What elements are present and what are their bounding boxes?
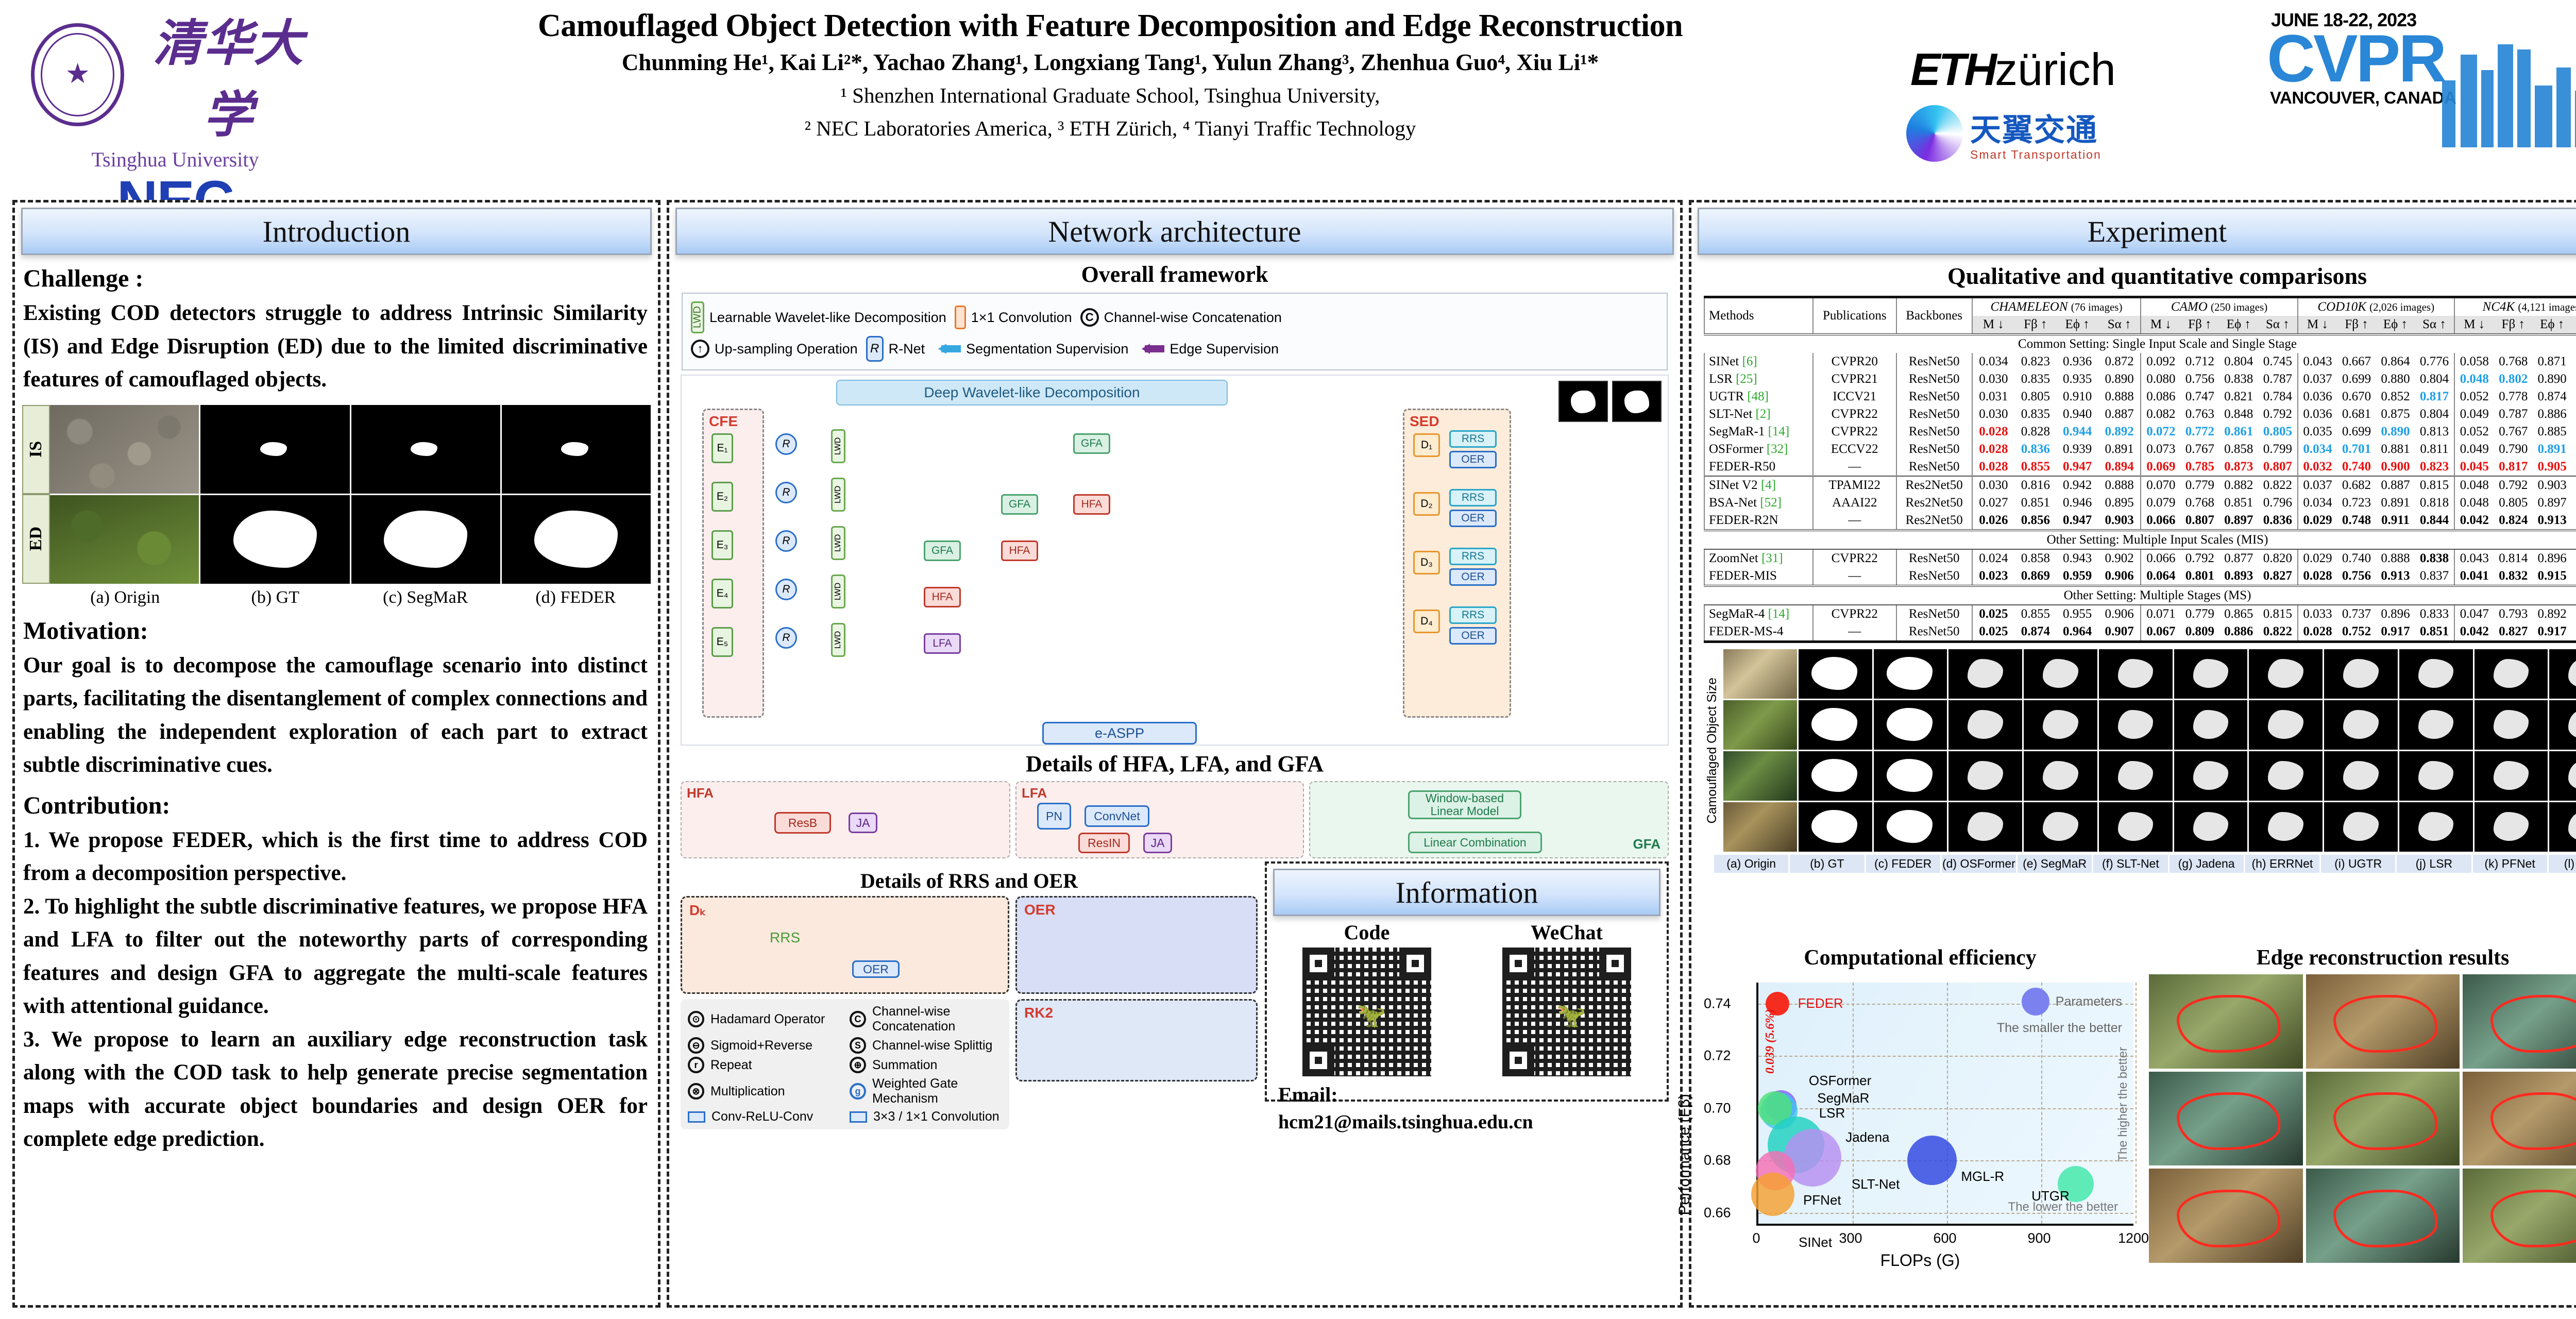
edge-result-9 xyxy=(2463,1169,2576,1263)
cell-metric-value: 0.036 xyxy=(2298,388,2337,405)
output-seg-map xyxy=(1558,381,1608,422)
hadamard-icon: ⊙ xyxy=(688,1011,704,1027)
legend-text: Weighted Gate Mechanism xyxy=(872,1076,1002,1106)
cell-metric-value: 0.064 xyxy=(2141,567,2180,586)
metric-header: Fβ ↑ xyxy=(2014,316,2056,334)
cell-metric-value: 0.029 xyxy=(2298,512,2337,530)
col-header-publications: Publications xyxy=(1813,297,1896,335)
cell-backbone: ResNet50 xyxy=(1896,549,1972,567)
cell-metric-value: 0.861 xyxy=(2219,423,2258,441)
ed-label-text: ED xyxy=(26,527,46,551)
qual-errnet-r1 xyxy=(2249,649,2323,699)
scatter-label-mgl-r: MGL-R xyxy=(1961,1169,2004,1185)
hfa-block-2: HFA xyxy=(1001,540,1038,561)
cell-metric-value: 0.756 xyxy=(2180,370,2219,388)
cell-metric-value: 0.031 xyxy=(1972,388,2015,405)
legend-item-rnet: R R-Net xyxy=(866,336,925,362)
metric-header: M ↓ xyxy=(1972,316,2015,334)
gfa-lcm-block: Linear Combination xyxy=(1408,832,1542,853)
lfa-pipeline-top: PN ConvNet xyxy=(1037,803,1149,830)
results-table: MethodsPublicationsBackbonesCHAMELEON (7… xyxy=(1704,296,2576,643)
cell-backbone: ResNet50 xyxy=(1896,441,1972,458)
cell-backbone: ResNet50 xyxy=(1896,423,1972,441)
qual-segmar-r2 xyxy=(2024,700,2097,750)
cell-publication: CVPR22 xyxy=(1813,549,1896,567)
oer-inner-ref: OER xyxy=(852,960,900,978)
legend-conv-relu-conv: Conv-ReLU-Conv xyxy=(688,1109,840,1124)
cell-backbone: ResNet50 xyxy=(1896,405,1972,423)
rk2-tag: RK2 xyxy=(1024,1005,1053,1021)
cell-metric-value: 0.822 xyxy=(2258,476,2298,494)
cell-metric-value: 0.772 xyxy=(2180,423,2219,441)
cell-publication: CVPR22 xyxy=(1813,423,1896,441)
cell-metric-value: 0.699 xyxy=(2337,370,2376,388)
email-block: Email: hcm21@mails.tsinghua.edu.cn xyxy=(1278,1083,1667,1134)
qualitative-y-axis: Camouflaged Object Size xyxy=(1701,649,1723,852)
gridline-vertical xyxy=(1947,983,1948,1224)
qr-finder-tr xyxy=(1599,948,1631,979)
cell-metric-value: 0.895 xyxy=(2098,494,2141,512)
encoder-block-e1: E₁ xyxy=(711,433,733,463)
cell-metric-value: 0.940 xyxy=(2056,405,2098,423)
cell-metric-value: 0.066 xyxy=(2141,549,2180,567)
table-row: OSFormer [32]ECCV22ResNet500.0280.8360.9… xyxy=(1704,441,2576,458)
challenge-heading: Challenge : xyxy=(23,264,658,293)
qual-lsr-r1 xyxy=(2399,649,2473,699)
edge-result-5 xyxy=(2306,1072,2460,1166)
cell-metric-value: 0.846 xyxy=(2571,458,2576,476)
cell-metric-value: 0.740 xyxy=(2337,458,2376,476)
row-label-is: IS xyxy=(22,405,50,495)
cell-metric-value: 0.682 xyxy=(2337,476,2376,494)
dataset-header: CHAMELEON (76 images) xyxy=(1972,297,2141,316)
cell-metric-value: 0.917 xyxy=(2533,623,2571,642)
rrs-block-3: RRS xyxy=(1449,548,1497,565)
cell-metric-value: 0.069 xyxy=(2141,458,2180,476)
qual-caption: (j) LSR xyxy=(2397,855,2471,873)
cell-metric-value: 0.748 xyxy=(2337,512,2376,530)
wechat-qr-icon[interactable]: 🦖 xyxy=(1502,948,1631,1076)
tsinghua-seal-icon xyxy=(31,23,124,126)
rrs-block-4: RRS xyxy=(1449,606,1497,624)
cell-metric-value: 0.049 xyxy=(2454,405,2494,423)
table-bottom-rule xyxy=(1704,642,2576,644)
decoder-block-d4: D₄ xyxy=(1413,610,1440,633)
cell-publication: CVPR20 xyxy=(1813,353,1896,370)
oer-block-1: OER xyxy=(1449,451,1497,468)
cell-metric-value: 0.032 xyxy=(2298,458,2337,476)
cell-metric-value: 0.787 xyxy=(2494,405,2533,423)
hfa-tag: HFA xyxy=(687,785,714,801)
cell-metric-value: 0.667 xyxy=(2337,353,2376,370)
multiplication-icon: ⊗ xyxy=(688,1083,704,1100)
metric-header: Fβ ↑ xyxy=(2494,316,2533,334)
legend-conv3x3: 3×3 / 1×1 Convolution xyxy=(850,1109,1002,1124)
cell-metric-value: 0.855 xyxy=(2014,458,2056,476)
sigmoid-reverse-icon: ⊖ xyxy=(688,1037,704,1054)
qual-origin-r1 xyxy=(1723,649,1797,699)
qual-sinet-r4 xyxy=(2549,802,2576,852)
qual-caption: (c) FEDER xyxy=(1866,855,1940,873)
cell-metric-value: 0.034 xyxy=(2298,494,2337,512)
cell-metric-value: 0.808 xyxy=(2571,353,2576,370)
cell-metric-value: 0.818 xyxy=(2415,494,2454,512)
wechat-qr-label: WeChat xyxy=(1502,920,1631,944)
metric-header: Eϕ ↑ xyxy=(2219,316,2258,334)
qual-caption: (d) OSFormer xyxy=(1942,855,2016,873)
cell-metric-value: 0.030 xyxy=(1972,370,2015,388)
split-icon: S xyxy=(850,1037,866,1054)
cell-metric-value: 0.807 xyxy=(2180,512,2219,530)
cell-metric-value: 0.882 xyxy=(2219,476,2258,494)
cell-metric-value: 0.851 xyxy=(2415,623,2454,642)
concat-circle-icon: C xyxy=(1080,308,1099,327)
legend-gate: gWeighted Gate Mechanism xyxy=(850,1076,1002,1106)
edge-results-grid xyxy=(2149,974,2576,1263)
qual-ugtr-r3 xyxy=(2324,751,2398,801)
purple-arrow-icon xyxy=(1137,344,1164,354)
qual-caption: (i) UGTR xyxy=(2321,855,2395,873)
qual-lsr-r2 xyxy=(2399,700,2473,750)
contribution-item-3: 3. We propose to learn an auxiliary edge… xyxy=(23,1023,648,1156)
qualitative-results-figure: Camouflaged Object Size xyxy=(1701,649,2576,852)
cell-metric-value: 0.792 xyxy=(2258,405,2298,423)
lfa-pipeline-bottom: ResIN JA xyxy=(1078,833,1172,853)
cell-method: FEDER-R50 xyxy=(1704,458,1813,476)
right-logos: ETHzürich 天翼交通 Smart Transportation JUNE… xyxy=(1901,7,2576,177)
overall-framework-heading: Overall framework xyxy=(669,261,1680,288)
cell-metric-value: 0.805 xyxy=(2014,388,2056,405)
cell-metric-value: 0.752 xyxy=(2337,623,2376,642)
qual-osformer-r3 xyxy=(1948,751,2022,801)
qual-axis-label: Camouflaged Object Size xyxy=(1705,678,1720,823)
qual-osformer-r1 xyxy=(1948,649,2022,699)
x-tick-label: 1200 xyxy=(2118,1230,2149,1246)
y-tick-label: 0.72 xyxy=(1704,1048,1731,1064)
computational-efficiency-panel: Computational efficiency FEDEROSFormerSe… xyxy=(1699,945,2142,1301)
qual-caption: (k) PFNet xyxy=(2473,855,2547,873)
table-row: BSA-Net [52]AAAI22Res2Net500.0270.8510.9… xyxy=(1704,494,2576,512)
cell-metric-value: 0.939 xyxy=(2056,441,2098,458)
cell-metric-value: 0.815 xyxy=(2258,605,2298,623)
cell-method: FEDER-MIS xyxy=(1704,567,1813,586)
col-header-backbones: Backbones xyxy=(1896,297,1972,335)
edge-result-4 xyxy=(2149,1072,2303,1166)
cell-metric-value: 0.745 xyxy=(2258,353,2298,370)
cell-method: FEDER-MS-4 xyxy=(1704,623,1813,642)
legend-text: Repeat xyxy=(710,1058,752,1073)
plot-area: FEDEROSFormerSegMaRLSRJadenaSLT-NetPFNet… xyxy=(1756,983,2133,1226)
edge-reconstruction-panel: Edge reconstruction results xyxy=(2149,945,2576,1301)
eth-bold-text: ETH xyxy=(1910,44,1995,95)
lwd-block-2: LWD xyxy=(831,478,845,512)
cell-metric-value: 0.890 xyxy=(2098,370,2141,388)
dino-icon: 🦖 xyxy=(1556,1002,1586,1029)
lfa-detail-box: LFA PN ConvNet ResIN JA xyxy=(1015,781,1304,858)
legend-row-2: ↑ Up-sampling Operation R R-Net Segmenta… xyxy=(691,336,1658,362)
cell-metric-value: 0.767 xyxy=(2494,423,2533,441)
network-title: Network architecture xyxy=(1048,214,1301,249)
oer-inline-tag: OER xyxy=(852,960,900,978)
legend-item-upsample: ↑ Up-sampling Operation xyxy=(691,340,858,358)
qr-finder-bl xyxy=(1502,1044,1534,1076)
cell-metric-value: 0.865 xyxy=(2219,605,2258,623)
cell-publication: — xyxy=(1813,623,1896,642)
cell-metric-value: 0.701 xyxy=(2337,441,2376,458)
cell-metric-value: 0.043 xyxy=(2454,549,2494,567)
rnet-chip-icon: R xyxy=(866,336,884,362)
cell-metric-value: 0.028 xyxy=(2298,567,2337,586)
convnet-block: ConvNet xyxy=(1084,805,1149,827)
cell-metric-value: 0.903 xyxy=(2533,476,2571,494)
qual-pfnet-r2 xyxy=(2475,700,2548,750)
qual-jadena-r1 xyxy=(2174,649,2248,699)
title-block: Camouflaged Object Detection with Featur… xyxy=(330,9,1891,142)
qr-finder-tl xyxy=(1502,948,1534,979)
scatter-point-sinet[interactable] xyxy=(1751,1173,1794,1216)
oer-module-box: OER xyxy=(1015,896,1258,994)
cell-publication: TPAMI22 xyxy=(1813,476,1896,494)
cell-metric-value: 0.028 xyxy=(1972,441,2015,458)
rnet-block-2: R xyxy=(775,482,797,503)
cell-metric-value: 0.821 xyxy=(2219,388,2258,405)
concat-icon: C xyxy=(850,1011,866,1027)
qual-caption: (g) Jadena xyxy=(2170,855,2244,873)
table-section-row: Other Setting: Multiple Stages (MS) xyxy=(1704,586,2576,605)
section-label: Other Setting: Multiple Stages (MS) xyxy=(1704,586,2576,605)
metric-header: Fβ ↑ xyxy=(2337,316,2376,334)
cell-metric-value: 0.832 xyxy=(2571,441,2576,458)
table-row: SINet [6]CVPR20ResNet500.0340.8230.9360.… xyxy=(1704,353,2576,370)
legend-text: 3×3 / 1×1 Convolution xyxy=(873,1109,999,1124)
rrs-inner-label: RRS xyxy=(770,929,800,946)
legend-item-concat: C Channel-wise Concatenation xyxy=(1080,308,1282,327)
cvpr-logo: JUNE 18-22, 2023 CVPR VANCOUVER, CANADA xyxy=(2267,9,2576,108)
col-header-methods: Methods xyxy=(1704,297,1813,335)
table-row: FEDER-MIS —ResNet500.0230.8690.9590.9060… xyxy=(1704,567,2576,586)
parameters-bubble-icon xyxy=(2022,988,2049,1016)
code-qr-group[interactable]: Code 🦖 xyxy=(1302,920,1431,1076)
efficiency-scatter-plot: FEDEROSFormerSegMaRLSRJadenaSLT-NetPFNet… xyxy=(1699,974,2142,1273)
qual-segmar-r3 xyxy=(2024,751,2097,801)
qual-gt-r1 xyxy=(1799,649,1872,699)
qual-pfnet-r1 xyxy=(2475,649,2548,699)
cell-metric-value: 0.913 xyxy=(2376,567,2415,586)
cell-metric-value: 0.852 xyxy=(2376,388,2415,405)
legend-label: Segmentation Supervision xyxy=(966,341,1128,357)
qualitative-image-grid xyxy=(1723,649,2576,852)
legend-parameters-label: Parameters xyxy=(2056,994,2122,1009)
cell-metric-value: 0.804 xyxy=(2415,405,2454,423)
bottom-panels: Computational efficiency FEDEROSFormerSe… xyxy=(1699,945,2576,1301)
metric-header: M ↓ xyxy=(2298,316,2337,334)
conv-chip-icon xyxy=(955,306,966,329)
cell-metric-value: 0.835 xyxy=(2014,405,2056,423)
qual-lsr-r4 xyxy=(2399,802,2473,852)
legend-label: Up-sampling Operation xyxy=(715,341,858,357)
cell-metric-value: 0.071 xyxy=(2141,605,2180,623)
edge-result-8 xyxy=(2306,1169,2460,1263)
cell-metric-value: 0.871 xyxy=(2533,353,2571,370)
qual-errnet-r2 xyxy=(2249,700,2323,750)
qr-code-row: Code 🦖 WeChat xyxy=(1267,920,1667,1076)
plot-legend: Parameters xyxy=(2022,988,2122,1016)
cell-metric-value: 0.947 xyxy=(2056,512,2098,530)
scatter-label-osformer: OSFormer xyxy=(1809,1073,1871,1089)
qual-sltnet-r1 xyxy=(2099,649,2173,699)
legend-hadamard: ⊙Hadamard Operator xyxy=(688,1004,840,1034)
qual-sltnet-r2 xyxy=(2099,700,2173,750)
lwd-block-5: LWD xyxy=(831,623,845,657)
lwd-block-1: LWD xyxy=(831,429,845,463)
qual-segmar-r1 xyxy=(2024,649,2097,699)
eth-zurich-logo: ETHzürich xyxy=(1910,43,2116,96)
cell-metric-value: 0.833 xyxy=(2415,605,2454,623)
cell-metric-value: 0.906 xyxy=(2098,567,2141,586)
section-label: Other Setting: Multiple Input Scales (MI… xyxy=(1704,530,2576,549)
cell-metric-value: 0.838 xyxy=(2219,370,2258,388)
x-tick-label: 600 xyxy=(1933,1230,1956,1246)
tsinghua-logo: 清华大学 xyxy=(31,3,319,146)
gridline-horizontal xyxy=(1758,1108,2133,1109)
rrs-oer-boxes: Dₖ RRS OER OER xyxy=(681,896,1258,994)
cell-metric-value: 0.030 xyxy=(1972,405,2015,423)
encoder-block-e4: E₄ xyxy=(711,579,733,608)
gfa-block-3: GFA xyxy=(924,540,961,561)
cell-metric-value: 0.028 xyxy=(2298,623,2337,642)
gridline-horizontal xyxy=(1758,1056,2133,1057)
rrs-block-1: RRS xyxy=(1449,430,1497,448)
ed-segmar-image xyxy=(351,495,500,584)
cell-metric-value: 0.887 xyxy=(2098,405,2141,423)
cell-metric-value: 0.779 xyxy=(2180,605,2219,623)
qual-osformer-r2 xyxy=(1948,700,2022,750)
code-qr-icon[interactable]: 🦖 xyxy=(1302,948,1431,1076)
cell-publication: — xyxy=(1813,567,1896,586)
computational-efficiency-heading: Computational efficiency xyxy=(1699,945,2142,970)
cell-metric-value: 0.086 xyxy=(2141,388,2180,405)
oer-tag-label: OER xyxy=(1024,902,1056,918)
cell-metric-value: 0.041 xyxy=(2454,567,2494,586)
x-tick-label: 0 xyxy=(1752,1230,1760,1246)
cell-metric-value: 0.026 xyxy=(1972,512,2015,530)
gfa-wlm-block: Window-based Linear Model xyxy=(1408,790,1521,819)
qual-sltnet-r4 xyxy=(2099,802,2173,852)
encoder-block-e2: E₂ xyxy=(711,482,733,512)
y-axis-hint: The higher the better xyxy=(2116,1047,2130,1162)
table-row: FEDER-R50 —ResNet500.0280.8550.9470.8940… xyxy=(1704,458,2576,476)
cell-metric-value: 0.036 xyxy=(2298,405,2337,423)
tsinghua-chinese-name: 清华大学 xyxy=(138,3,319,146)
cell-metric-value: 0.856 xyxy=(2014,512,2056,530)
output-maps xyxy=(1558,381,1662,422)
improvement-annotation: 0.039 (5.6%) xyxy=(1764,1009,1777,1074)
legend-item-conv: 1×1 Convolution xyxy=(955,306,1072,329)
symbol-legend-row: ⊙Hadamard Operator CChannel-wise Concate… xyxy=(681,994,1258,1129)
qual-feder-r4 xyxy=(1874,802,1947,852)
cell-metric-value: 0.955 xyxy=(2056,605,2098,623)
information-panel: Information Code 🦖 WeChat xyxy=(1265,861,1669,1102)
cell-metric-value: 0.862 xyxy=(2571,512,2576,530)
cell-metric-value: 0.813 xyxy=(2415,423,2454,441)
cell-metric-value: 0.793 xyxy=(2494,605,2533,623)
resb-block: ResB xyxy=(774,812,831,834)
cell-metric-value: 0.767 xyxy=(2180,441,2219,458)
legend-text: Summation xyxy=(872,1058,937,1073)
legend-label: R-Net xyxy=(889,341,925,357)
edge-result-6 xyxy=(2463,1072,2576,1166)
cell-metric-value: 0.888 xyxy=(2376,549,2415,567)
cell-metric-value: 0.778 xyxy=(2494,388,2533,405)
x-axis-hint: The lower the better xyxy=(2008,1200,2118,1214)
cell-metric-value: 0.796 xyxy=(2258,494,2298,512)
wechat-qr-group[interactable]: WeChat 🦖 xyxy=(1502,920,1631,1076)
cell-metric-value: 0.082 xyxy=(2141,405,2180,423)
qual-origin-r2 xyxy=(1723,700,1797,750)
cell-metric-value: 0.023 xyxy=(1972,567,2015,586)
cell-metric-value: 0.947 xyxy=(2056,458,2098,476)
cell-metric-value: 0.784 xyxy=(2258,388,2298,405)
cell-metric-value: 0.851 xyxy=(2219,494,2258,512)
legend-text: Hadamard Operator xyxy=(710,1012,825,1027)
ed-feder-image xyxy=(502,495,651,584)
cell-metric-value: 0.034 xyxy=(1972,353,2015,370)
legend-text: Conv-ReLU-Conv xyxy=(711,1109,813,1124)
table-row: SINet V2 [4]TPAMI22Res2Net500.0300.8160.… xyxy=(1704,476,2576,494)
cell-metric-value: 0.052 xyxy=(2454,388,2494,405)
legend-text: Multiplication xyxy=(710,1084,785,1099)
cell-metric-value: 0.944 xyxy=(2056,423,2098,441)
cell-metric-value: 0.828 xyxy=(2014,423,2056,441)
ja-block-lfa: JA xyxy=(1143,833,1172,853)
legend-sublabel: The smaller the better xyxy=(1997,1021,2122,1036)
encoder-block-e3: E₃ xyxy=(711,530,733,560)
ja-block-hfa: JA xyxy=(849,813,877,833)
cell-metric-value: 0.817 xyxy=(2494,458,2533,476)
qualitative-quantitative-heading: Qualitative and quantitative comparisons xyxy=(1691,262,2576,290)
cell-method: BSA-Net [52] xyxy=(1704,494,1813,512)
scatter-point-mgl-r[interactable] xyxy=(1907,1136,1957,1185)
cell-metric-value: 0.891 xyxy=(2098,441,2141,458)
cell-metric-value: 0.792 xyxy=(2180,549,2219,567)
cell-metric-value: 0.892 xyxy=(2533,605,2571,623)
qual-segmar-r4 xyxy=(2024,802,2097,852)
section-label: Common Setting: Single Input Scale and S… xyxy=(1704,334,2576,353)
email-address[interactable]: hcm21@mails.tsinghua.edu.cn xyxy=(1278,1111,1667,1134)
cell-metric-value: 0.827 xyxy=(2494,623,2533,642)
edge-reconstruction-heading: Edge reconstruction results xyxy=(2149,945,2576,970)
metric-header: Sα ↑ xyxy=(2258,316,2298,334)
cell-backbone: ResNet50 xyxy=(1896,458,1972,476)
decoder-block-d2: D₂ xyxy=(1413,492,1440,516)
information-title: Information xyxy=(1395,875,1538,910)
rrs-oer-heading: Details of RRS and OER xyxy=(681,869,1258,893)
qual-caption: (h) ERRNet xyxy=(2245,855,2319,873)
fig-caption: (d) FEDER xyxy=(501,588,651,607)
cell-metric-value: 0.863 xyxy=(2571,623,2576,642)
cell-metric-value: 0.872 xyxy=(2098,353,2141,370)
is-ed-figure: IS ED xyxy=(22,405,651,584)
scatter-label-feder: FEDER xyxy=(1798,995,1843,1011)
legend-repeat: rRepeat xyxy=(688,1057,840,1073)
qual-origin-r3 xyxy=(1723,751,1797,801)
motivation-heading: Motivation: xyxy=(23,617,658,645)
cell-backbone: ResNet50 xyxy=(1896,388,1972,405)
y-axis-label: Performance (Fβ) xyxy=(1676,1094,1693,1215)
legend-label: Learnable Wavelet-like Decomposition xyxy=(709,310,946,326)
rnet-block-3: R xyxy=(775,530,797,552)
cell-metric-value: 0.790 xyxy=(2494,441,2533,458)
